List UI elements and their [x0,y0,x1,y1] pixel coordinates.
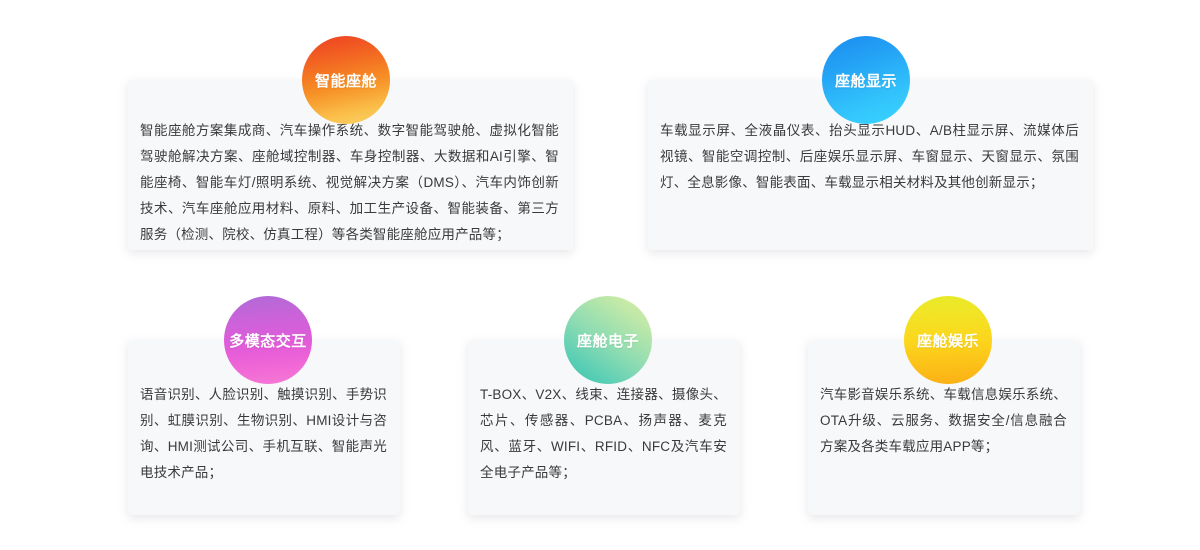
category-board: 智能座舱方案集成商、汽车操作系统、数字智能驾驶舱、虚拟化智能驾驶舱解决方案、座舱… [0,0,1200,550]
badge-label-intelligent-cockpit: 智能座舱 [315,70,377,91]
badge-cockpit-display[interactable]: 座舱显示 [822,36,910,124]
badge-label-cockpit-entertainment: 座舱娱乐 [917,330,979,351]
card-body-cockpit-electronics: T-BOX、V2X、线束、连接器、摄像头、芯片、传感器、PCBA、扬声器、麦克风… [468,382,740,486]
badge-multimodal[interactable]: 多模态交互 [224,296,312,384]
badge-label-multimodal: 多模态交互 [229,330,307,351]
card-body-cockpit-entertainment: 汽车影音娱乐系统、车载信息娱乐系统、OTA升级、云服务、数据安全/信息融合方案及… [808,382,1080,460]
badge-label-cockpit-electronics: 座舱电子 [577,330,639,351]
card-body-multimodal: 语音识别、人脸识别、触摸识别、手势识别、虹膜识别、生物识别、HMI设计与咨询、H… [128,382,400,486]
card-body-cockpit-display: 车载显示屏、全液晶仪表、抬头显示HUD、A/B柱显示屏、流媒体后视镜、智能空调控… [648,118,1093,196]
badge-intelligent-cockpit[interactable]: 智能座舱 [302,36,390,124]
badge-cockpit-electronics[interactable]: 座舱电子 [564,296,652,384]
badge-cockpit-entertainment[interactable]: 座舱娱乐 [904,296,992,384]
card-body-intelligent-cockpit: 智能座舱方案集成商、汽车操作系统、数字智能驾驶舱、虚拟化智能驾驶舱解决方案、座舱… [128,118,573,248]
badge-label-cockpit-display: 座舱显示 [835,70,897,91]
